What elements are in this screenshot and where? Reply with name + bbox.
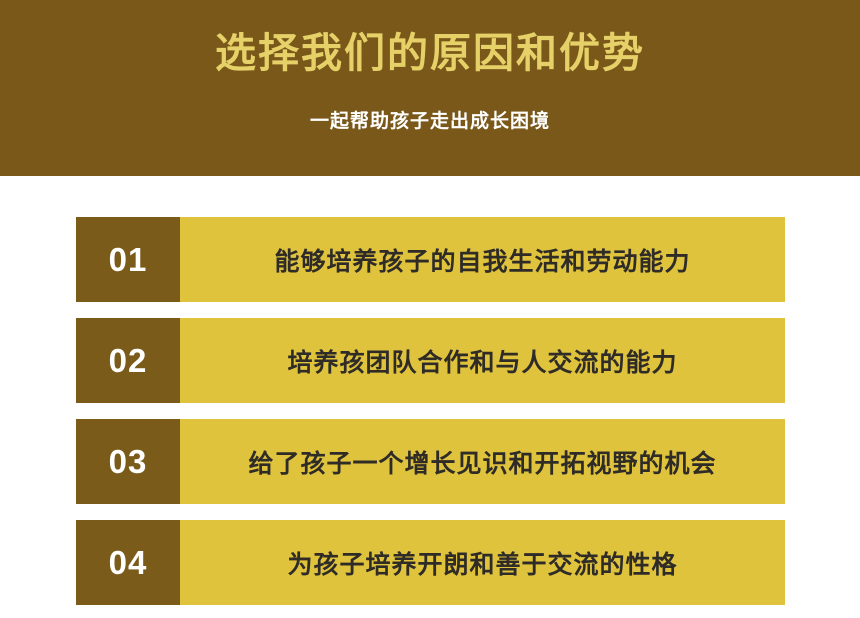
list-item: 02 培养孩团队合作和与人交流的能力 [76, 318, 785, 403]
list-item-label: 能够培养孩子的自我生活和劳动能力 [180, 217, 785, 302]
page-title: 选择我们的原因和优势 [0, 28, 860, 79]
page-subtitle: 一起帮助孩子走出成长困境 [0, 110, 860, 135]
header-banner: 选择我们的原因和优势 一起帮助孩子走出成长困境 [0, 0, 860, 176]
list-item-number: 02 [76, 318, 180, 403]
list-item-number: 03 [76, 419, 180, 504]
benefits-list: 01 能够培养孩子的自我生活和劳动能力 02 培养孩团队合作和与人交流的能力 0… [76, 217, 785, 605]
list-item-number: 01 [76, 217, 180, 302]
list-item-label: 为孩子培养开朗和善于交流的性格 [180, 520, 785, 605]
list-item-label: 给了孩子一个增长见识和开拓视野的机会 [180, 419, 785, 504]
poster-page: 选择我们的原因和优势 一起帮助孩子走出成长困境 01 能够培养孩子的自我生活和劳… [0, 0, 860, 618]
list-item: 03 给了孩子一个增长见识和开拓视野的机会 [76, 419, 785, 504]
list-item-number: 04 [76, 520, 180, 605]
list-item: 04 为孩子培养开朗和善于交流的性格 [76, 520, 785, 605]
list-item: 01 能够培养孩子的自我生活和劳动能力 [76, 217, 785, 302]
list-item-label: 培养孩团队合作和与人交流的能力 [180, 318, 785, 403]
